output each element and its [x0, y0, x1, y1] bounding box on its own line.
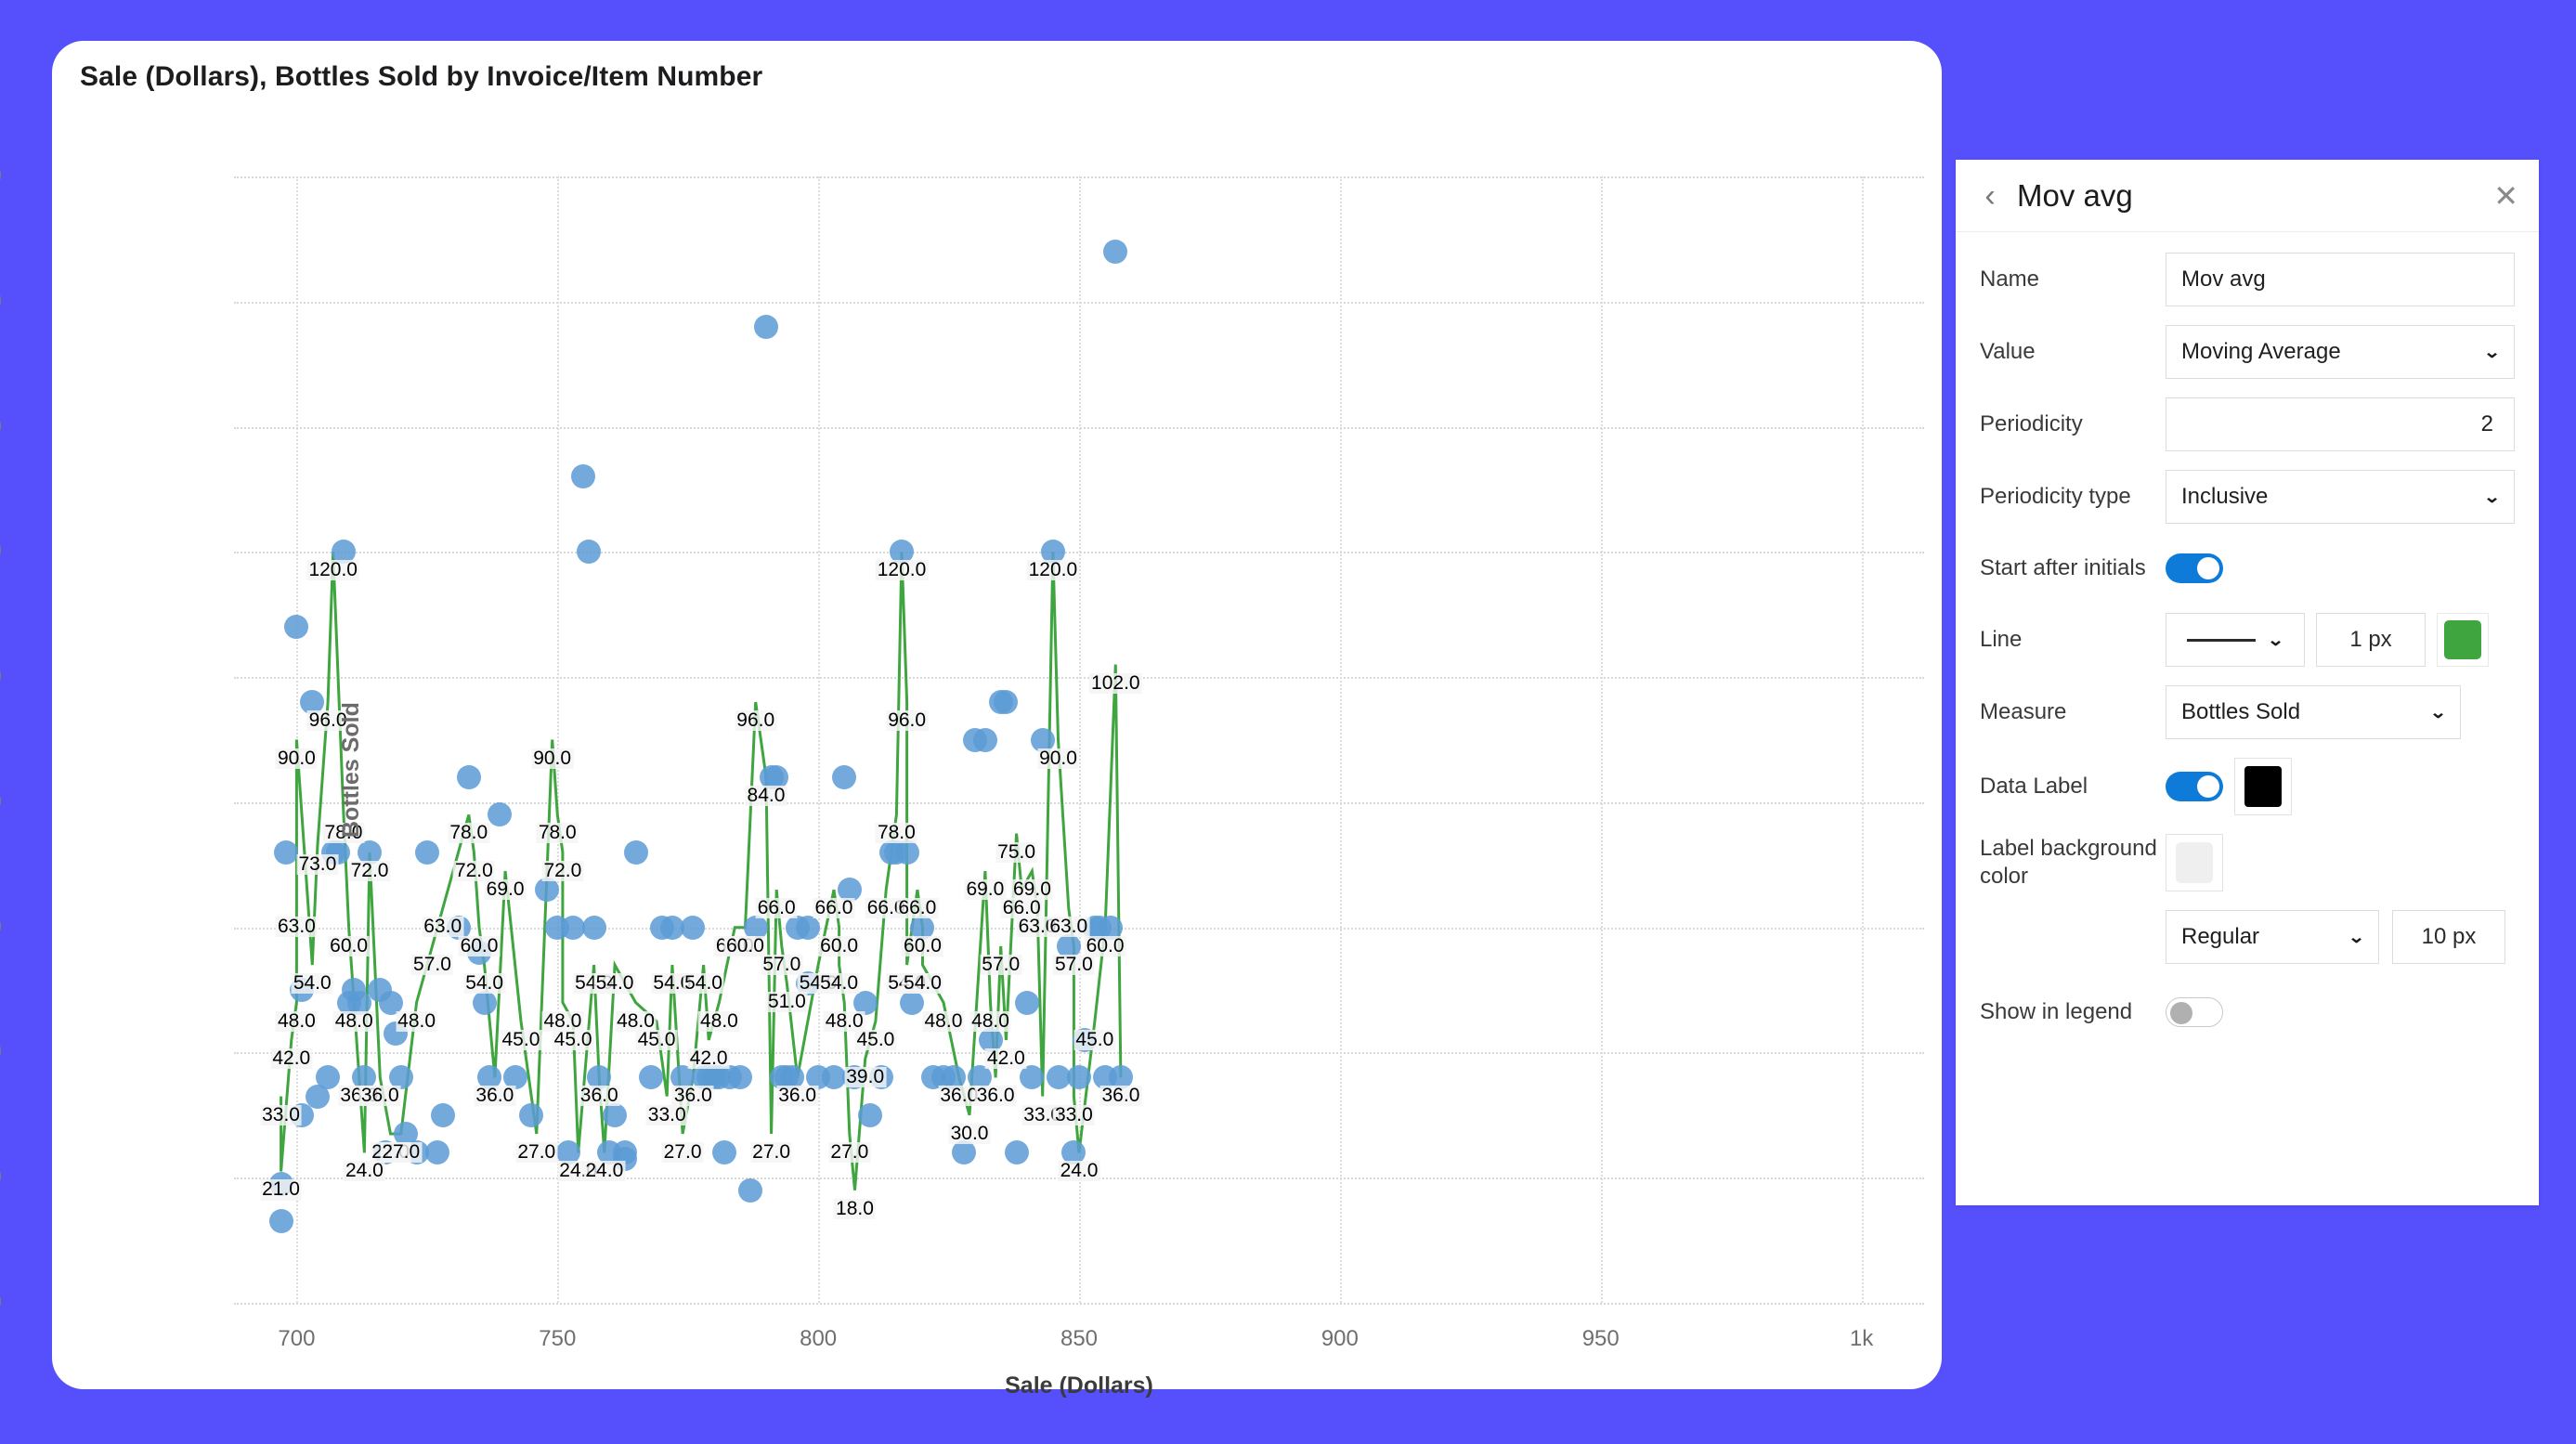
measure-label: Measure [1980, 698, 2166, 726]
x-tick-label: 900 [1321, 1326, 1359, 1352]
y-tick-label: 20 [0, 1164, 2, 1190]
x-tick-label: 1k [1850, 1326, 1873, 1352]
periodicity-type-select[interactable]: Inclusive ⌄ [2166, 470, 2515, 524]
font-weight-text: Regular [2181, 924, 2259, 950]
y-tick-label: 180 [0, 163, 2, 189]
y-tick-label: 140 [0, 414, 2, 440]
panel-title: Mov avg [2017, 178, 2133, 214]
line-color-fill [2444, 620, 2481, 659]
y-tick-label: 40 [0, 1039, 2, 1065]
row-start-after-initials: Start after initials [1980, 542, 2515, 594]
row-line: Line ⌄ 1 px [1980, 613, 2515, 667]
label-background-color-fill [2176, 842, 2213, 883]
gridline-horizontal [234, 1303, 1924, 1305]
series-settings-panel: ‹ Mov avg ✕ Name Mov avg Value Moving Av… [1956, 160, 2539, 1205]
toggle-knob [2197, 557, 2219, 579]
chart-card: Sale (Dollars), Bottles Sold by Invoice/… [52, 41, 1942, 1389]
chevron-left-icon[interactable]: ‹ [1980, 180, 2000, 212]
font-weight-select[interactable]: Regular ⌄ [2166, 910, 2379, 964]
periodicity-type-label: Periodicity type [1980, 483, 2166, 511]
measure-select[interactable]: Bottles Sold ⌄ [2166, 685, 2461, 739]
line-width-input[interactable]: 1 px [2316, 613, 2426, 667]
toggle-knob [2197, 775, 2219, 798]
row-periodicity-type: Periodicity type Inclusive ⌄ [1980, 470, 2515, 524]
label-background-color-label: Label background color [1980, 835, 2166, 891]
name-label: Name [1980, 266, 2166, 293]
y-tick-label: 60 [0, 915, 2, 941]
chevron-down-icon: ⌄ [2483, 488, 2501, 507]
row-value: Value Moving Average ⌄ [1980, 325, 2515, 379]
data-label-color-swatch[interactable] [2234, 758, 2292, 815]
name-input[interactable]: Mov avg [2166, 253, 2515, 306]
row-show-in-legend: Show in legend [1980, 986, 2515, 1038]
periodicity-type-text: Inclusive [2181, 484, 2268, 510]
x-tick-label: 850 [1060, 1326, 1098, 1352]
line-style-select[interactable]: ⌄ [2166, 613, 2305, 667]
row-font-style: Regular ⌄ 10 px [2166, 910, 2515, 964]
periodicity-label: Periodicity [1980, 410, 2166, 438]
line-color-swatch[interactable] [2437, 613, 2489, 667]
y-tick-label: 160 [0, 289, 2, 315]
chevron-down-icon: ⌄ [2483, 343, 2501, 362]
data-label-toggle[interactable] [2166, 772, 2223, 801]
y-tick-label: 0 [0, 1290, 2, 1316]
app-root: Sale (Dollars), Bottles Sold by Invoice/… [0, 0, 2576, 1444]
measure-select-text: Bottles Sold [2181, 699, 2300, 725]
x-tick-label: 750 [539, 1326, 576, 1352]
show-in-legend-toggle[interactable] [2166, 997, 2223, 1027]
show-in-legend-label: Show in legend [1980, 998, 2166, 1026]
chevron-down-icon: ⌄ [2348, 928, 2365, 947]
data-label-label: Data Label [1980, 773, 2166, 800]
y-tick-label: 120 [0, 539, 2, 565]
x-tick-label: 700 [278, 1326, 315, 1352]
plot-area: 33.021.042.048.063.090.054.073.096.0120.… [234, 176, 1924, 1303]
x-axis-title: Sale (Dollars) [234, 1372, 1924, 1399]
x-tick-label: 950 [1582, 1326, 1620, 1352]
toggle-knob [2170, 1002, 2192, 1024]
row-name: Name Mov avg [1980, 253, 2515, 306]
panel-body: Name Mov avg Value Moving Average ⌄ Peri… [1956, 232, 2539, 1038]
chart-title: Sale (Dollars), Bottles Sold by Invoice/… [80, 61, 762, 93]
line-label: Line [1980, 626, 2166, 654]
value-label: Value [1980, 338, 2166, 366]
x-axis-ticks: 7007508008509009501k [234, 176, 1924, 1303]
y-tick-label: 80 [0, 789, 2, 815]
value-select[interactable]: Moving Average ⌄ [2166, 325, 2515, 379]
chevron-down-icon: ⌄ [2429, 703, 2447, 722]
y-tick-label: 100 [0, 664, 2, 690]
x-tick-label: 800 [800, 1326, 837, 1352]
solid-line-icon [2187, 639, 2256, 642]
periodicity-input[interactable]: 2 [2166, 397, 2515, 451]
data-label-color-fill [2244, 766, 2282, 807]
close-icon[interactable]: ✕ [2493, 181, 2518, 211]
label-background-color-swatch[interactable] [2166, 834, 2223, 891]
start-after-initials-label: Start after initials [1980, 554, 2166, 582]
font-size-input[interactable]: 10 px [2392, 910, 2505, 964]
row-periodicity: Periodicity 2 [1980, 397, 2515, 451]
y-axis-title: Bottles Sold [338, 702, 365, 838]
panel-header: ‹ Mov avg ✕ [1956, 160, 2539, 232]
chevron-down-icon: ⌄ [2268, 631, 2285, 650]
row-measure: Measure Bottles Sold ⌄ [1980, 685, 2515, 739]
row-data-label: Data Label [1980, 758, 2515, 815]
start-after-initials-toggle[interactable] [2166, 553, 2223, 583]
row-label-background-color: Label background color [1980, 834, 2515, 891]
value-select-text: Moving Average [2181, 339, 2341, 365]
